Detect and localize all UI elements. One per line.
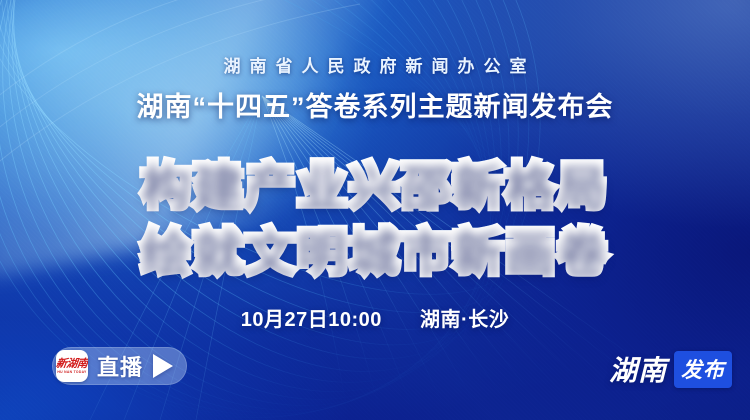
brand-name: 湖南 bbox=[609, 349, 667, 389]
event-meta: 10月27日10:00 湖南·长沙 bbox=[0, 303, 750, 332]
headline-line-2: 绘就文明城市新画卷 bbox=[0, 212, 750, 284]
headline-line-1-text: 构建产业兴邵新格局 bbox=[141, 158, 609, 214]
live-stream-button[interactable]: 新湖南 HU NAN TODAY 直播 bbox=[52, 347, 187, 385]
poster-content: 湖南省人民政府新闻办公室 湖南“十四五”答卷系列主题新闻发布会 构建产业兴邵新格… bbox=[0, 0, 750, 420]
hunan-today-logo-cn: 新湖南 bbox=[56, 358, 88, 369]
headline-line-2-text: 绘就文明城市新画卷 bbox=[141, 224, 609, 280]
issuer-kicker: 湖南省人民政府新闻办公室 bbox=[0, 52, 750, 77]
event-location: 湖南·长沙 bbox=[420, 309, 509, 331]
event-datetime: 10月27日10:00 bbox=[241, 309, 382, 331]
play-triangle-icon[interactable] bbox=[153, 354, 173, 378]
live-label: 直播 bbox=[97, 350, 143, 382]
brand-tag: 发布 bbox=[674, 351, 732, 388]
headline-line-1: 构建产业兴邵新格局 bbox=[0, 146, 750, 218]
series-subtitle: 湖南“十四五”答卷系列主题新闻发布会 bbox=[0, 85, 750, 124]
hunan-today-logo: 新湖南 HU NAN TODAY bbox=[56, 350, 88, 382]
hunan-today-logo-en: HU NAN TODAY bbox=[57, 370, 86, 375]
news-conference-poster: 湖南省人民政府新闻办公室 湖南“十四五”答卷系列主题新闻发布会 构建产业兴邵新格… bbox=[0, 0, 750, 420]
hunan-fabu-brand: 湖南 发布 bbox=[609, 349, 732, 389]
